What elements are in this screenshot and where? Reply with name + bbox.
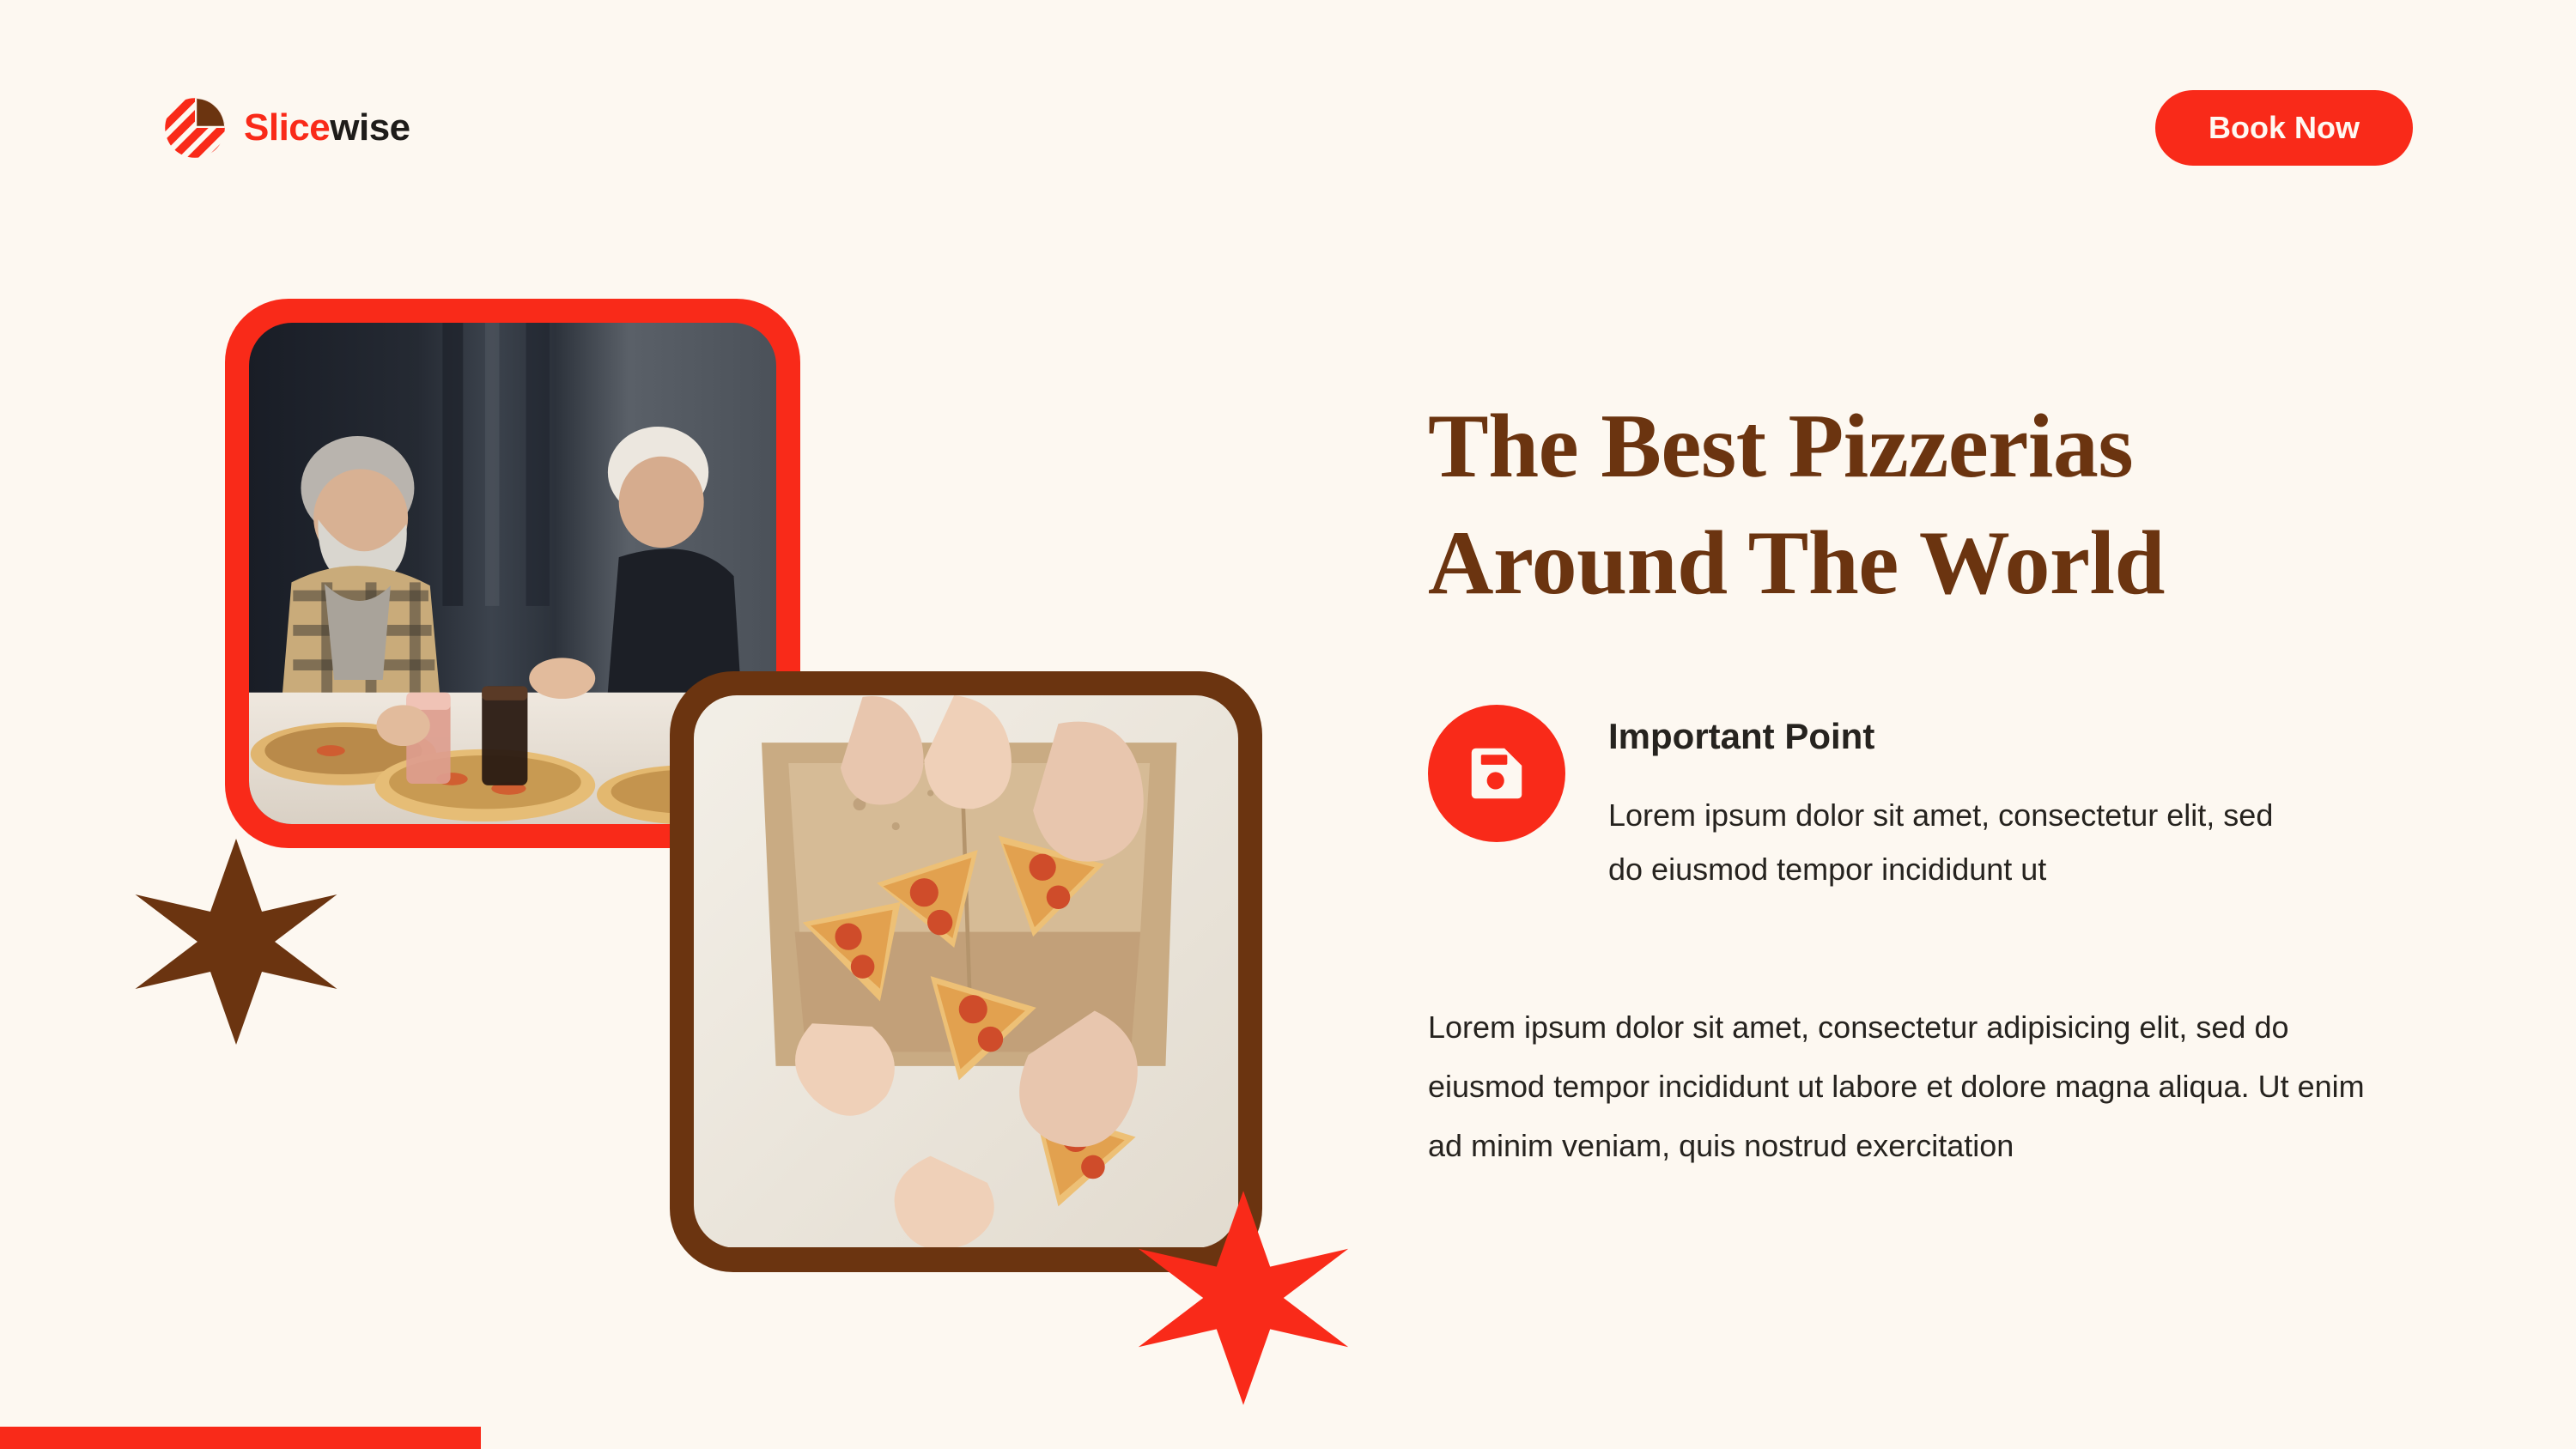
important-point-title: Important Point (1608, 715, 2295, 758)
content-column: The Best Pizzerias Around The World Impo… (1428, 388, 2415, 1175)
headline-line-2: Around The World (1428, 505, 2415, 621)
important-point-block: Important Point Lorem ipsum dolor sit am… (1428, 705, 2415, 895)
brand-name-part2: wise (330, 106, 410, 149)
brand-name: Slicewise (244, 109, 410, 147)
star-brown-icon (129, 834, 343, 1049)
pizza-slice-logo-icon (163, 96, 227, 160)
save-disk-icon (1428, 705, 1565, 842)
header: Slicewise Book Now (163, 89, 2413, 167)
important-point-text: Lorem ipsum dolor sit amet, consectetur … (1608, 788, 2295, 896)
body-paragraph: Lorem ipsum dolor sit amet, consectetur … (1428, 997, 2398, 1175)
accent-bar (0, 1427, 481, 1449)
slide-root: Slicewise Book Now (0, 0, 2576, 1449)
star-red-icon (1132, 1186, 1355, 1410)
photo-pizza-box-hands (694, 695, 1238, 1248)
book-now-button[interactable]: Book Now (2155, 90, 2413, 166)
headline-line-1: The Best Pizzerias (1428, 396, 2133, 496)
important-point-body: Important Point Lorem ipsum dolor sit am… (1608, 705, 2295, 895)
visual-collage (0, 258, 1391, 1399)
page-title: The Best Pizzerias Around The World (1428, 388, 2415, 621)
photo-frame-secondary (670, 671, 1262, 1272)
brand-name-part1: Slice (244, 106, 330, 149)
brand-logo[interactable]: Slicewise (163, 96, 410, 160)
